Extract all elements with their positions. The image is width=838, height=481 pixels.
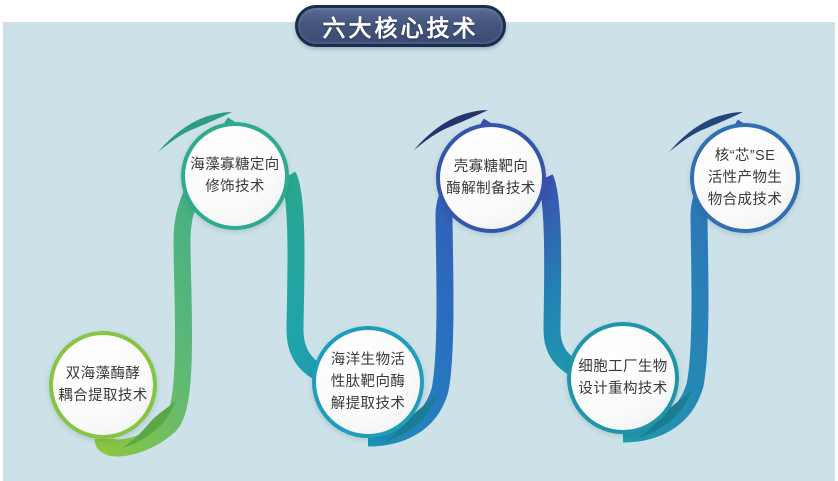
diagram-canvas: 双海藻酶酵 耦合提取技术 海藻寡糖定向 修饰技术 海洋生物活 性肽靶向酶 解提取… [0,0,838,481]
page-title-badge: 六大核心技术 [295,5,506,47]
node-label-2: 海藻寡糖定向 修饰技术 [186,154,283,198]
node-label-4: 壳寡糖靶向 酶解制备技术 [442,156,539,200]
node-label-3: 海洋生物活 性肽靶向酶 解提取技术 [327,349,410,415]
node-circle-1[interactable]: 双海藻酶酵 耦合提取技术 [49,331,157,439]
node-circle-3[interactable]: 海洋生物活 性肽靶向酶 解提取技术 [312,326,424,438]
page-title: 六大核心技术 [323,9,479,43]
node-circle-2[interactable]: 海藻寡糖定向 修饰技术 [181,122,289,230]
node-circle-5[interactable]: 细胞工厂生物 设计重构技术 [567,322,679,434]
node-circle-6[interactable]: 核“芯”SE 活性产物生 物合成技术 [690,123,800,233]
node-label-6: 核“芯”SE 活性产物生 物合成技术 [704,145,787,211]
node-label-5: 细胞工厂生物 设计重构技术 [574,356,671,400]
node-label-1: 双海藻酶酵 耦合提取技术 [54,363,151,407]
node-circle-4[interactable]: 壳寡糖靶向 酶解制备技术 [436,123,546,233]
